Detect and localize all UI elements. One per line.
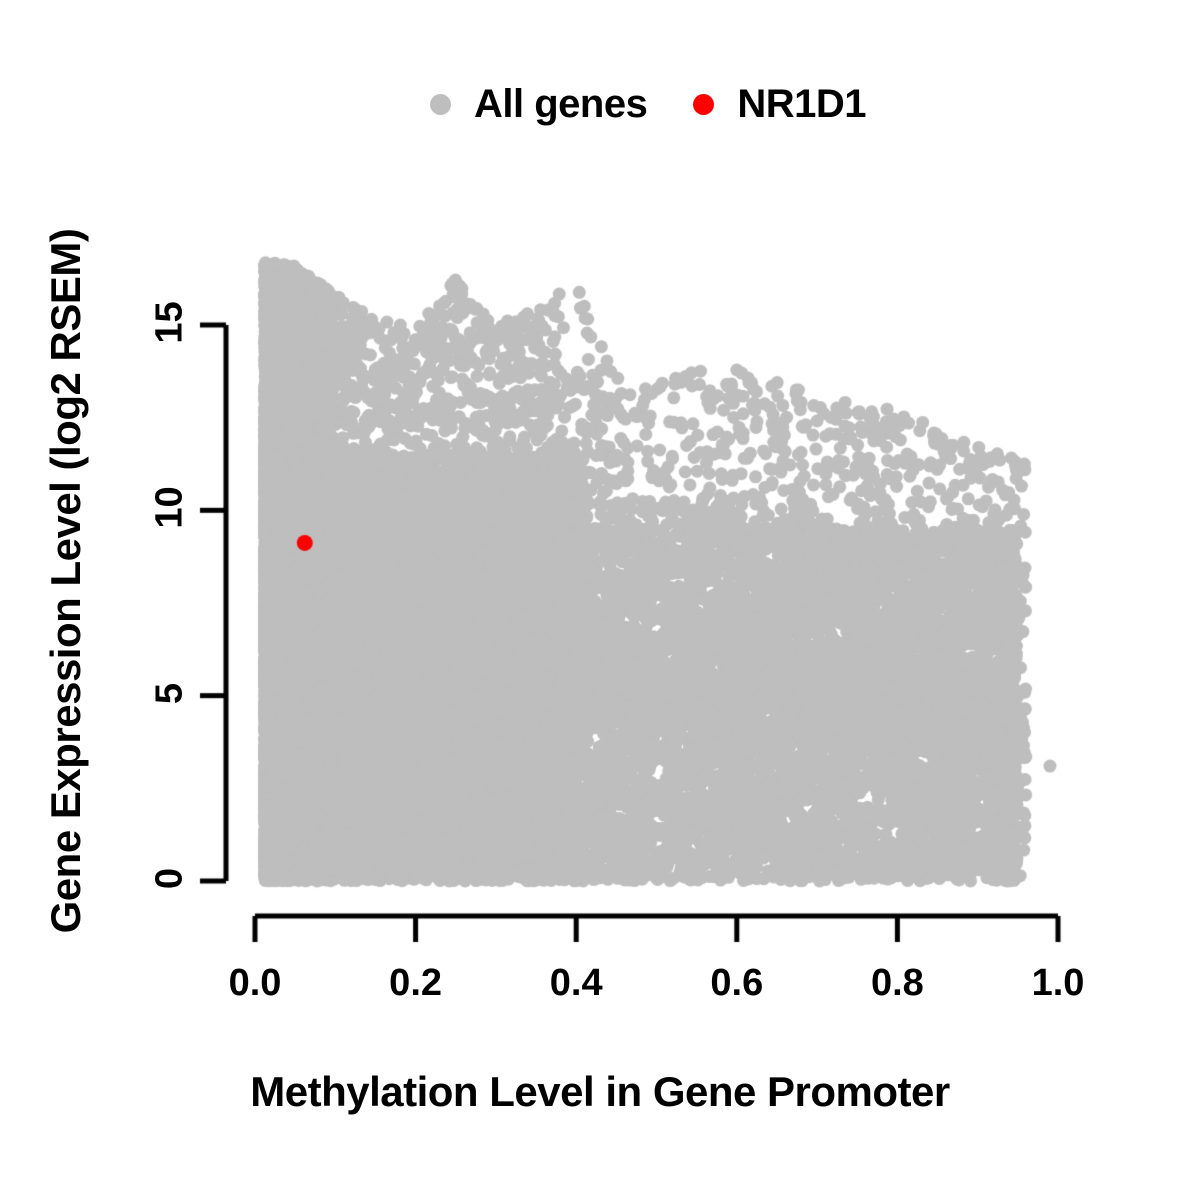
scatter-plot-figure: All genes NR1D1 0.00.20.40.60.81.0 05101…: [0, 0, 1200, 1200]
chart-legend: All genes NR1D1: [430, 82, 866, 127]
legend-marker-red-dot-icon: [693, 94, 714, 115]
legend-entry-nr1d1: NR1D1: [693, 82, 866, 127]
scatter-plot-canvas: [0, 0, 1200, 1200]
legend-entry-all-genes: All genes: [430, 82, 647, 127]
legend-label-nr1d1: NR1D1: [737, 82, 866, 127]
legend-marker-gray-dot-icon: [430, 94, 451, 115]
legend-label-all-genes: All genes: [474, 82, 647, 127]
